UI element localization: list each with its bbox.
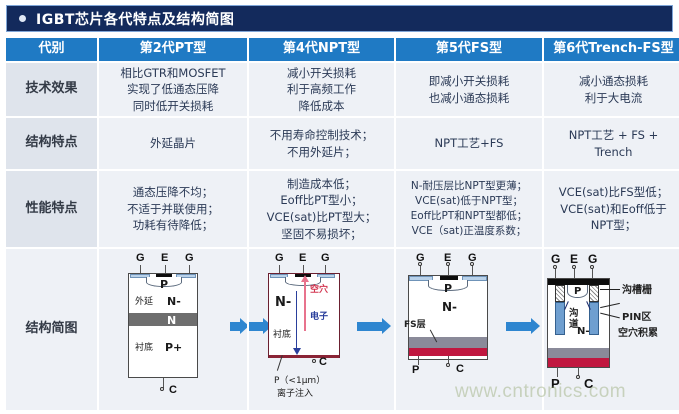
cell-tech-effect-gen6: 减小通态损耗 利于大电流: [544, 63, 679, 118]
gate-lead-left: [279, 265, 280, 273]
layer-label-n-minus: N-: [275, 294, 291, 313]
row-label-structure-feature: 结构特点: [6, 118, 99, 171]
cell-tech-effect-gen2: 相比GTR和MOSFET 实现了低通态压降 同时低开关损耗: [99, 63, 249, 118]
text-line: 减小开关损耗: [252, 65, 391, 82]
text-line: NPT工艺+FS: [399, 135, 539, 152]
diagram-pt: G E G P 外延 N-: [99, 249, 247, 410]
header-cell-generation: 代别: [6, 38, 99, 63]
text-line: 降低成本: [252, 98, 391, 115]
cell-performance-gen6: VCE(sat)比FS型低； VCE(sat)和Eoff低于 NPT型；: [544, 171, 679, 249]
trench-gate-right: [589, 285, 599, 302]
fs-layer: [548, 348, 609, 358]
terminal-collector-label: C: [319, 355, 327, 371]
implant-note: 离子注入: [277, 388, 313, 401]
cell-tech-effect-gen4: 减小开关损耗 利于高频工作 降低成本: [249, 63, 396, 118]
collector-node-icon: [576, 375, 580, 379]
cell-performance-gen2: 通态压降不均； 不适于并联使用； 功耗有待降低；: [99, 171, 249, 249]
text-line: 利于高频工作: [252, 81, 391, 98]
electron-label: 电子: [310, 313, 320, 322]
layer-label-epitaxial: 外延: [135, 296, 153, 309]
emitter-node-icon: [572, 265, 576, 269]
cell-performance-gen5: N-耐压层比NPT型更薄； VCE(sat)低于NPT型； Eoff比PT和NP…: [396, 171, 544, 249]
channel-label-line2: 道: [569, 318, 579, 332]
cell-structure-gen4: 不用寿命控制技术； 不用外延片；: [249, 118, 396, 171]
bullet-dot-icon: [19, 15, 26, 22]
gate-node-right-icon: [590, 265, 594, 269]
terminal-collector-label: C: [456, 362, 464, 378]
slide-title-bar: IGBT芯片各代特点及结构简图: [6, 5, 673, 32]
layer-label-substrate: 衬底: [273, 329, 291, 342]
text-line: Trench: [547, 144, 679, 161]
text-line: 功耗有待降低；: [102, 217, 244, 234]
gate-lead-right: [189, 265, 190, 273]
header-cell-gen5-fs: 第5代FS型: [396, 38, 544, 63]
hole-accumulation-label: 空穴积累: [618, 327, 658, 342]
text-line: 不适于并联使用；: [102, 201, 244, 218]
hole-flow-arrowhead-icon: [301, 275, 309, 282]
hole-flow-arrow: [304, 279, 306, 331]
terminal-collector-label: C: [169, 383, 177, 399]
implant-label: P（<1μm）: [274, 375, 325, 388]
layer-label-p-plus: P+: [165, 340, 182, 356]
trench-gate-callout-line: [600, 289, 620, 290]
text-line: VCE（sat)正温度系数；: [399, 224, 539, 239]
text-line: Eoff比PT型小；: [252, 192, 391, 209]
text-line: VCE(sat)低于NPT型；: [399, 194, 539, 209]
buffer-layer-n: [129, 313, 197, 326]
emitter-lead: [303, 265, 304, 273]
cell-diagram-gen2-pt: G E G P 外延 N-: [99, 249, 249, 412]
emitter-lead: [165, 265, 166, 273]
row-label-structure-diagram: 结构简图: [6, 249, 99, 412]
header-cell-gen6-trench-fs: 第6代Trench-FS型: [544, 38, 679, 63]
text-line: NPT型；: [547, 217, 679, 234]
table-row: 结构简图 G E G: [6, 249, 679, 412]
text-line: N-耐压层比NPT型更薄；: [399, 179, 539, 194]
text-line: VCE(sat)比PT型大；: [252, 209, 391, 226]
trench-gate-left: [555, 285, 565, 302]
row-label-tech-effect: 技术效果: [6, 63, 99, 118]
gate-node-left-icon: [553, 265, 557, 269]
text-line: 也减小通态损耗: [399, 90, 539, 107]
table-header-row: 代别 第2代PT型 第4代NPT型 第5代FS型 第6代Trench-FS型: [6, 38, 679, 63]
collector-node-icon: [312, 359, 316, 363]
flow-arrow-icon: [357, 322, 382, 331]
hole-label: 空穴: [310, 286, 320, 295]
gate-lead-left: [140, 265, 141, 273]
electron-flow-arrow: [296, 291, 297, 349]
diagram-npt: G E G N- 衬底: [249, 249, 394, 410]
text-line: 相比GTR和MOSFET: [102, 65, 244, 82]
text-line: 不用外延片；: [252, 144, 391, 161]
header-cell-gen4-npt: 第4代NPT型: [249, 38, 396, 63]
cell-diagram-gen6-trench-fs: G E G: [544, 249, 679, 412]
diagram-trench-fs: G E G: [544, 249, 679, 410]
text-line: 制造成本低；: [252, 176, 391, 193]
fs-label: FS层: [404, 319, 426, 332]
text-line: 坚固不易损坏；: [252, 226, 391, 243]
flow-arrow-icon: [249, 322, 263, 331]
text-line: 实现了低通态压降: [102, 81, 244, 98]
collector-p-layer: [548, 358, 609, 367]
text-line: VCE(sat)比FS型低；: [547, 184, 679, 201]
text-line: 外延晶片: [102, 135, 244, 152]
text-line: Eoff比PT和NPT型都低；: [399, 209, 539, 224]
text-line: 利于大电流: [547, 90, 679, 107]
pin-region-label: PIN区: [622, 311, 651, 326]
text-line: NPT工艺 + FS +: [547, 127, 679, 144]
cell-structure-gen5: NPT工艺+FS: [396, 118, 544, 171]
collector-p-layer: [409, 348, 487, 356]
gate-node-right-icon: [470, 262, 474, 266]
cell-tech-effect-gen5: 即减小开关损耗 也减小通态损耗: [396, 63, 544, 118]
collector-node-icon: [446, 363, 450, 367]
fs-layer: [409, 337, 487, 348]
pin-region-left: [555, 302, 565, 335]
cell-structure-gen2: 外延晶片: [99, 118, 249, 171]
page-title: IGBT芯片各代特点及结构简图: [36, 9, 234, 29]
flow-arrow-icon: [230, 322, 240, 331]
cell-diagram-gen4-npt: G E G N- 衬底: [249, 249, 396, 412]
text-line: 同时低开关损耗: [102, 98, 244, 115]
trench-gate-label: 沟槽栅: [622, 284, 652, 299]
terminal-p-label: P: [412, 363, 419, 379]
collector-node-icon: [160, 387, 164, 391]
cell-diagram-gen5-fs: G E G P N-: [396, 249, 544, 412]
flow-arrow-icon: [506, 322, 531, 331]
text-line: 通态压降不均；: [102, 184, 244, 201]
text-line: VCE(sat)和Eoff低于: [547, 201, 679, 218]
layer-label-n-minus: N-: [167, 294, 181, 310]
table-row: 性能特点 通态压降不均； 不适于并联使用； 功耗有待降低； 制造成本低； Eof…: [6, 171, 679, 249]
cell-performance-gen4: 制造成本低； Eoff比PT型小； VCE(sat)比PT型大； 坚固不易损坏；: [249, 171, 396, 249]
pin-region-right: [589, 302, 599, 335]
row-label-performance-feature: 性能特点: [6, 171, 99, 249]
comparison-table: 代别 第2代PT型 第4代NPT型 第5代FS型 第6代Trench-FS型 技…: [6, 38, 679, 414]
gate-lead-right: [325, 265, 326, 273]
table-row: 结构特点 外延晶片 不用寿命控制技术； 不用外延片； NPT工艺+FS NP: [6, 118, 679, 171]
terminal-collector-label: C: [584, 375, 593, 394]
layer-label-substrate: 衬底: [135, 342, 153, 355]
electron-flow-arrowhead-icon: [293, 348, 301, 355]
layer-label-n-minus: N-: [442, 299, 457, 316]
slide-root: IGBT芯片各代特点及结构简图 代别 第2代PT型 第4代NPT型 第5代FS型…: [0, 0, 679, 414]
terminal-p-label: P: [551, 375, 560, 394]
cell-structure-gen6: NPT工艺 + FS + Trench: [544, 118, 679, 171]
emitter-node-icon: [446, 262, 450, 266]
layer-label-p: P: [444, 281, 452, 297]
text-line: 即减小开关损耗: [399, 73, 539, 90]
gate-node-left-icon: [418, 262, 422, 266]
layer-label-p: P: [574, 285, 581, 300]
ion-implant-p-layer: [269, 355, 339, 358]
header-cell-gen2-pt: 第2代PT型: [99, 38, 249, 63]
implant-callout-line: [277, 355, 295, 375]
layer-label-n-buffer: N: [167, 313, 176, 329]
table-row: 技术效果 相比GTR和MOSFET 实现了低通态压降 同时低开关损耗 减小开关损…: [6, 63, 679, 118]
text-line: 不用寿命控制技术；: [252, 127, 391, 144]
diagram-fs: G E G P N-: [396, 249, 542, 410]
text-line: 减小通态损耗: [547, 73, 679, 90]
layer-label-p: P: [160, 277, 168, 293]
